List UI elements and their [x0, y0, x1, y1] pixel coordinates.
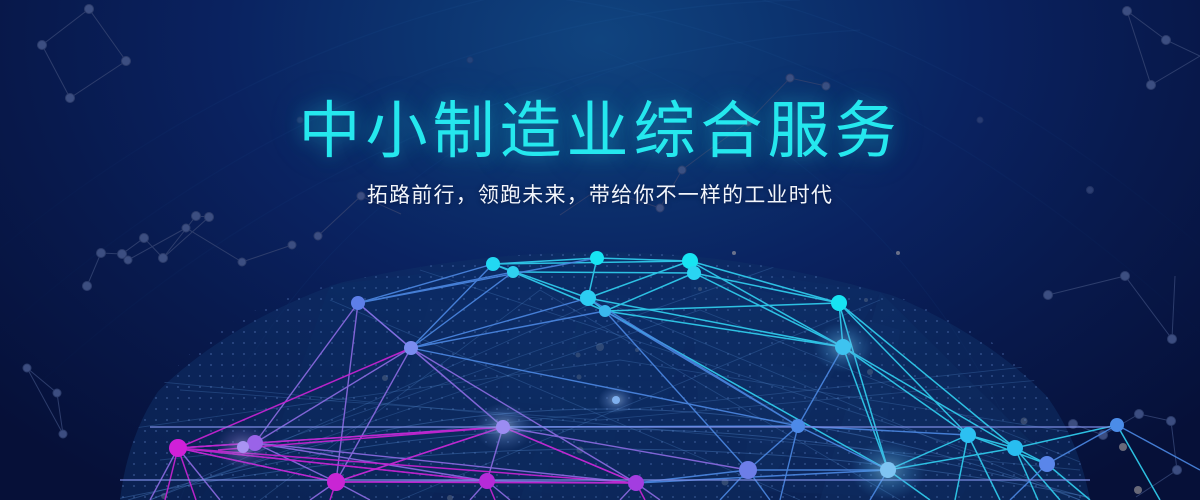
dome-nodes — [169, 251, 1124, 491]
hero-banner: 中小制造业综合服务 拓路前行，领跑未来，带给你不一样的工业时代 — [0, 0, 1200, 500]
page-subtitle: 拓路前行，领跑未来，带给你不一样的工业时代 — [0, 162, 1200, 209]
hero-text-block: 中小制造业综合服务 拓路前行，领跑未来，带给你不一样的工业时代 — [0, 0, 1200, 209]
node-glow-halos — [215, 322, 926, 500]
page-title: 中小制造业综合服务 — [0, 0, 1200, 162]
